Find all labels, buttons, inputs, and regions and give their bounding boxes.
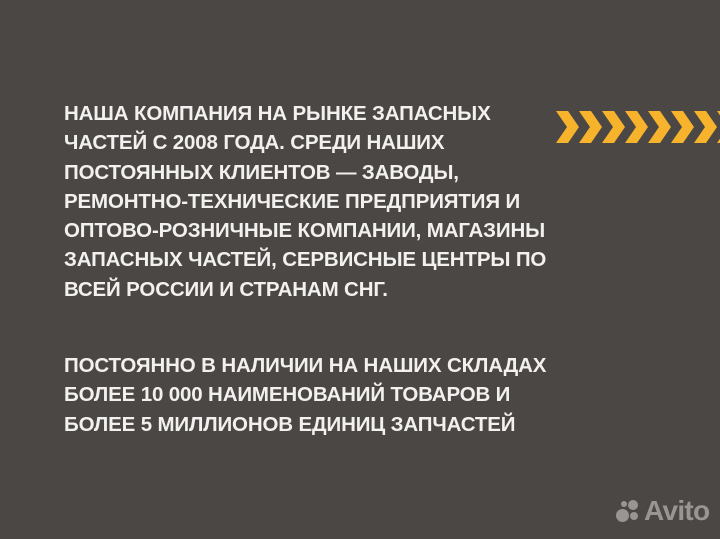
- chevron-icon: [625, 111, 648, 143]
- avito-dot-tiny: [621, 501, 627, 507]
- chevron-icon: [648, 111, 671, 143]
- text-line: ПОСТОЯННО В НАЛИЧИИ НА НАШИХ СКЛАДАХ: [64, 351, 584, 380]
- chevron-icon: [602, 111, 625, 143]
- text-line: ЗАПАСНЫХ ЧАСТЕЙ, СЕРВИСНЫЕ ЦЕНТРЫ ПО: [64, 245, 584, 274]
- avito-dot-small: [630, 512, 638, 520]
- text-line: НАША КОМПАНИЯ НА РЫНКЕ ЗАПАСНЫХ: [64, 99, 584, 128]
- text-line: РЕМОНТНО-ТЕХНИЧЕСКИЕ ПРЕДПРИЯТИЯ И: [64, 187, 584, 216]
- text-line: БОЛЕЕ 5 МИЛЛИОНОВ ЕДИНИЦ ЗАПЧАСТЕЙ: [64, 410, 584, 439]
- chevron-icon: [671, 111, 694, 143]
- company-description-paragraph: НАША КОМПАНИЯ НА РЫНКЕ ЗАПАСНЫХ ЧАСТЕЙ С…: [64, 99, 584, 304]
- stock-availability-paragraph: ПОСТОЯННО В НАЛИЧИИ НА НАШИХ СКЛАДАХ БОЛ…: [64, 351, 584, 439]
- text-line: ЧАСТЕЙ С 2008 ГОДА. СРЕДИ НАШИХ: [64, 128, 584, 157]
- text-line: ВСЕЙ РОССИИ И СТРАНАМ СНГ.: [64, 275, 584, 304]
- promo-text-block: НАША КОМПАНИЯ НА РЫНКЕ ЗАПАСНЫХ ЧАСТЕЙ С…: [64, 99, 584, 439]
- avito-wordmark: Avito: [644, 497, 709, 525]
- avito-dot-medium: [628, 500, 638, 510]
- chevron-icon: [694, 111, 717, 143]
- avito-watermark: Avito: [616, 496, 709, 526]
- text-line: ПОСТОЯННЫХ КЛИЕНТОВ — ЗАВОДЫ,: [64, 158, 584, 187]
- promo-slide: НАША КОМПАНИЯ НА РЫНКЕ ЗАПАСНЫХ ЧАСТЕЙ С…: [0, 0, 720, 539]
- avito-dots-icon: [616, 499, 641, 523]
- text-line: БОЛЕЕ 10 000 НАИМЕНОВАНИЙ ТОВАРОВ И: [64, 380, 584, 409]
- text-line: ОПТОВО-РОЗНИЧНЫЕ КОМПАНИИ, МАГАЗИНЫ: [64, 216, 584, 245]
- avito-dot-large: [616, 509, 629, 522]
